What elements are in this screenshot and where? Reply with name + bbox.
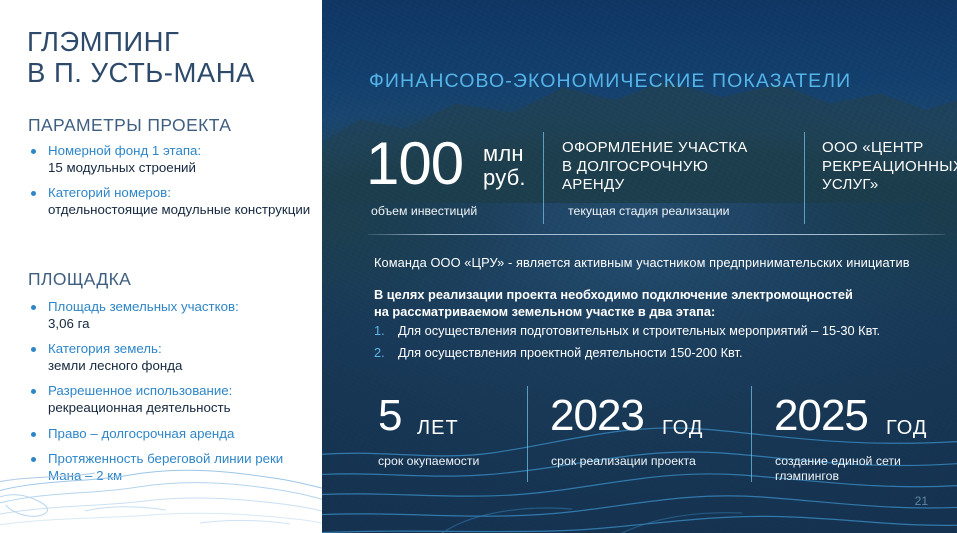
horizontal-divider (368, 234, 945, 235)
list-item-highlight: Номерной фонд 1 этапа: (48, 143, 201, 158)
section-heading-project-parameters: ПАРАМЕТРЫ ПРОЕКТА (28, 115, 231, 136)
payback-caption: срок окупаемости (378, 454, 479, 469)
network-year-unit: ГОД (886, 418, 927, 438)
slide-title: ГЛЭМПИНГ В П. УСТЬ-МАНА (27, 26, 317, 88)
list-item: Номерной фонд 1 этапа: 15 модульных стро… (28, 143, 318, 176)
list-item-highlight: Категорий номеров: (48, 185, 171, 200)
divider (527, 386, 528, 482)
divider (751, 386, 752, 482)
list-item-highlight: Протяженность береговой линии реки Мана … (48, 451, 283, 483)
page-number: 21 (915, 494, 928, 508)
payback-unit: ЛЕТ (417, 418, 459, 438)
right-panel: ФИНАНСОВО-ЭКОНОМИЧЕСКИЕ ПОКАЗАТЕЛИ 100 м… (322, 0, 957, 533)
list-item-rest: земли лесного фонда (48, 358, 182, 373)
left-panel: ГЛЭМПИНГ В П. УСТЬ-МАНА ПАРАМЕТРЫ ПРОЕКТ… (0, 0, 322, 533)
project-parameters-list: Номерной фонд 1 этапа: 15 модульных стро… (28, 143, 318, 227)
list-item: Площадь земельных участков: 3,06 га (28, 299, 318, 332)
network-year-value: 2025 (774, 394, 868, 438)
list-item-highlight: Площадь земельных участков: (48, 299, 239, 314)
project-stage-text: ОФОРМЛЕНИЕ УЧАСТКА В ДОЛГОСРОЧНУЮ АРЕНДУ (562, 139, 787, 195)
presentation-slide: ГЛЭМПИНГ В П. УСТЬ-МАНА ПАРАМЕТРЫ ПРОЕКТ… (0, 0, 957, 533)
list-item: 1. Для осуществления подготовительных и … (374, 322, 944, 339)
list-item-highlight: Право – долгосрочная аренда (48, 426, 234, 441)
list-item-highlight: Категория земель: (48, 341, 162, 356)
list-item: Категория земель: земли лесного фонда (28, 341, 318, 374)
list-item: Разрешенное использование: рекреационная… (28, 383, 318, 416)
bottom-statistics-row: 5 ЛЕТ срок окупаемости 2023 ГОД срок реа… (366, 392, 941, 476)
panel-title: ФИНАНСОВО-ЭКОНОМИЧЕСКИЕ ПОКАЗАТЕЛИ (369, 70, 851, 93)
list-item-rest: рекреационная деятельность (48, 400, 231, 415)
list-item-rest: 3,06 га (48, 316, 90, 331)
bullet-dot-icon (31, 389, 36, 394)
list-index: 2. (374, 344, 385, 361)
investment-unit: млн руб. (483, 142, 526, 190)
bullet-dot-icon (31, 347, 36, 352)
list-item-rest: 15 модульных строений (48, 160, 196, 175)
bullet-dot-icon (31, 191, 36, 196)
list-item: Категорий номеров: отдельностоящие модул… (28, 185, 318, 218)
company-name: ООО «ЦЕНТР РЕКРЕАЦИОННЫХ УСЛУГ» (822, 139, 957, 195)
divider (543, 132, 544, 224)
power-stages-list: 1. Для осуществления подготовительных и … (374, 322, 944, 366)
network-year-caption: создание единой сети глэмпингов (775, 454, 901, 484)
list-item-text: Для осуществления подготовительных и стр… (398, 323, 880, 338)
power-requirement-heading: В целях реализации проекта необходимо по… (374, 286, 934, 320)
site-parameters-list: Площадь земельных участков: 3,06 га Кате… (28, 299, 318, 493)
completion-year-value: 2023 (550, 394, 644, 438)
list-item: 2. Для осуществления проектной деятельно… (374, 344, 944, 361)
bullet-dot-icon (31, 432, 36, 437)
list-item-text: Для осуществления проектной деятельности… (398, 345, 743, 360)
investment-caption: объем инвестиций (371, 204, 477, 218)
payback-value: 5 (378, 394, 401, 438)
completion-year-unit: ГОД (662, 418, 703, 438)
bullet-dot-icon (31, 149, 36, 154)
team-line: Команда ООО «ЦРУ» - является активным уч… (374, 255, 910, 270)
list-item: Право – долгосрочная аренда (28, 426, 318, 443)
project-stage-caption: текущая стадия реализации (568, 204, 729, 218)
bullet-dot-icon (31, 457, 36, 462)
bullet-dot-icon (31, 305, 36, 310)
completion-year-caption: срок реализации проекта (551, 454, 696, 469)
list-item-highlight: Разрешенное использование: (48, 383, 232, 398)
divider (804, 132, 805, 224)
list-item: Протяженность береговой линии реки Мана … (28, 451, 318, 484)
top-statistics-row: 100 млн руб. объем инвестиций ОФОРМЛЕНИЕ… (366, 132, 941, 224)
list-item-rest: отдельностоящие модульные конструкции (48, 202, 310, 217)
section-heading-site: ПЛОЩАДКА (28, 269, 131, 290)
investment-value: 100 (366, 134, 463, 194)
list-index: 1. (374, 322, 385, 339)
